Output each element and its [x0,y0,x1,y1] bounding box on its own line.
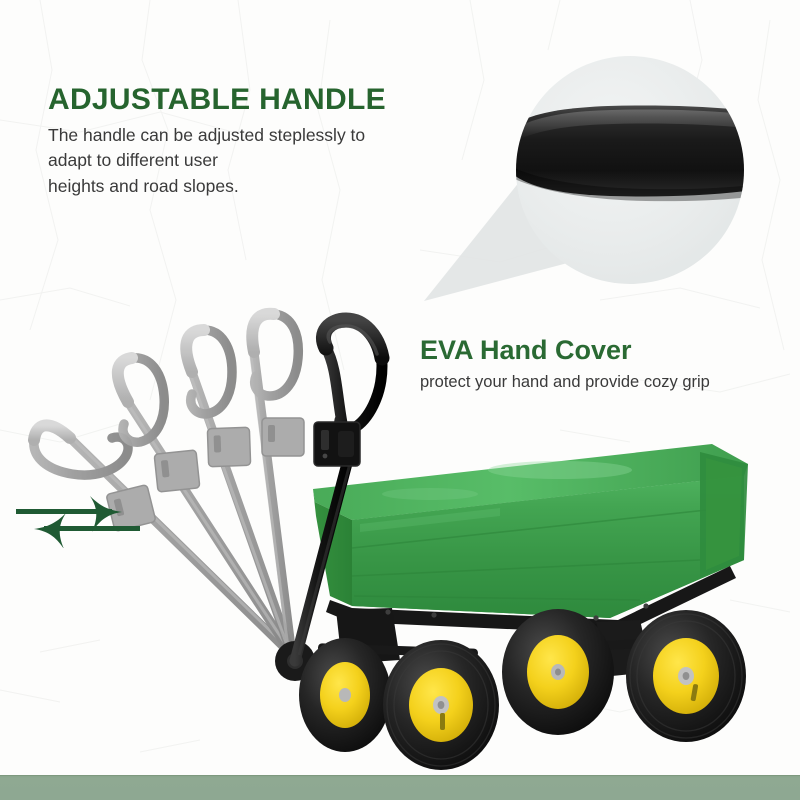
garden-cart-illustration [0,0,800,800]
adjust-range-double-arrow [12,492,144,548]
wheel-front-near [383,640,499,770]
wheel-front-far [299,638,391,752]
wheel-rear-near [626,610,746,742]
wheel-rear-far [502,609,614,735]
infographic-canvas: ADJUSTABLE HANDLE The handle can be adju… [0,0,800,800]
floor-strip [0,775,800,800]
arrow-left-icon [34,513,140,548]
handle-ghost-positions [34,314,304,655]
